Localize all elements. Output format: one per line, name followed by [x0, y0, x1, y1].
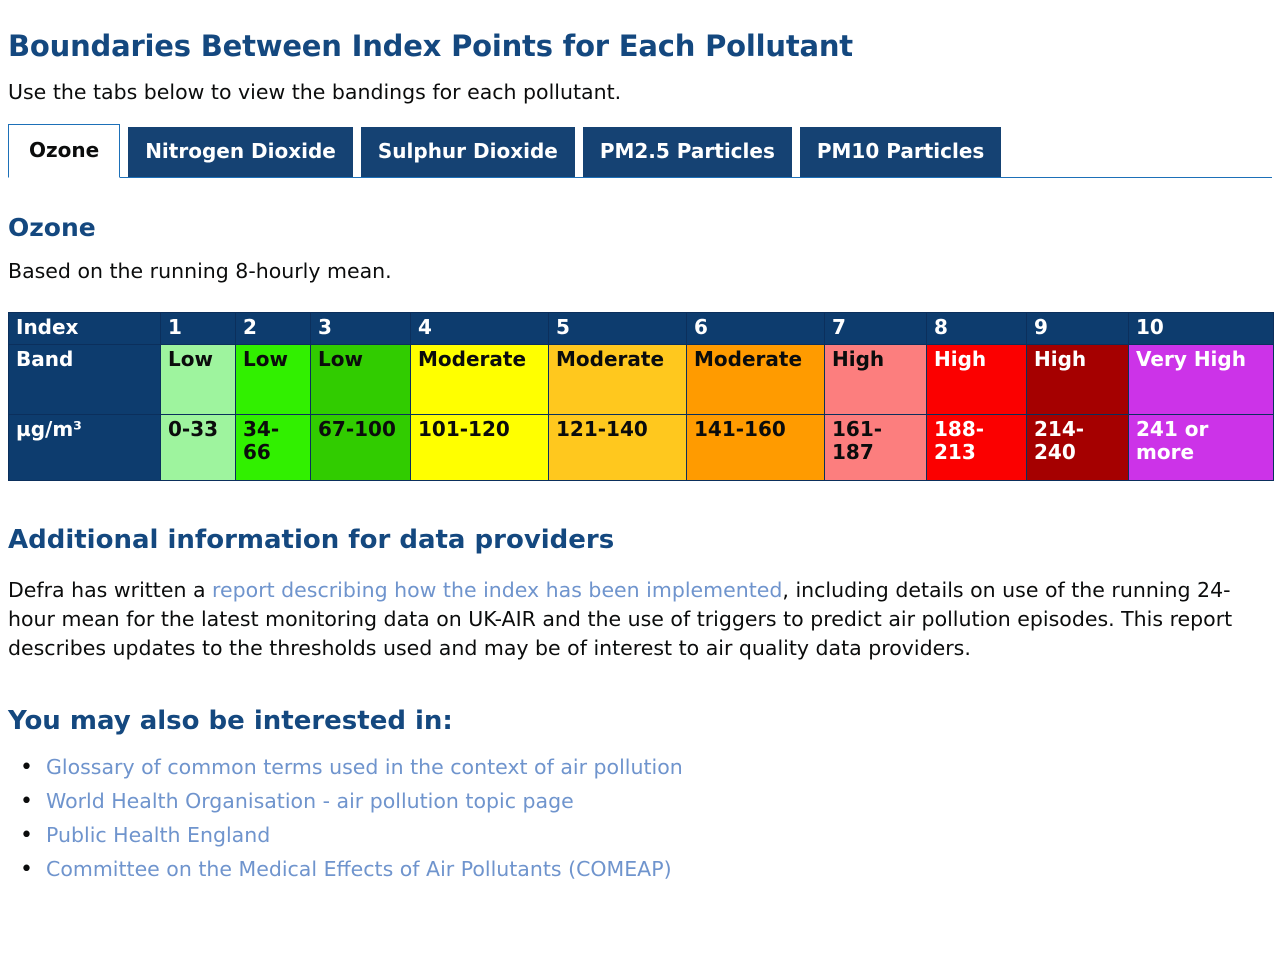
- tab-sulphur-dioxide[interactable]: Sulphur Dioxide: [361, 127, 575, 177]
- row-label-index: Index: [9, 313, 161, 345]
- list-item: Public Health England: [46, 818, 1272, 852]
- list-item: Glossary of common terms used in the con…: [46, 750, 1272, 784]
- interested-heading: You may also be interested in:: [8, 663, 1272, 736]
- list-item: World Health Organisation - air pollutio…: [46, 784, 1272, 818]
- additional-info-heading: Additional information for data provider…: [8, 481, 1272, 555]
- related-link[interactable]: Public Health England: [46, 823, 270, 847]
- index-header-8: 8: [927, 313, 1027, 345]
- page-title: Boundaries Between Index Points for Each…: [8, 0, 1272, 63]
- concentration-cell-10: 241 or more: [1129, 415, 1274, 481]
- band-cell-7: High: [825, 345, 927, 415]
- band-cell-2: Low: [236, 345, 311, 415]
- tab-list: OzoneNitrogen DioxideSulphur DioxidePM2.…: [8, 123, 1272, 177]
- index-header-2: 2: [236, 313, 311, 345]
- table-row-concentration: µg/m³ 0-3334-6667-100101-120121-140141-1…: [9, 415, 1274, 481]
- band-cell-8: High: [927, 345, 1027, 415]
- index-header-4: 4: [411, 313, 549, 345]
- concentration-cell-3: 67-100: [311, 415, 411, 481]
- section-heading: Ozone: [8, 178, 1272, 242]
- concentration-cell-1: 0-33: [161, 415, 236, 481]
- related-link[interactable]: World Health Organisation - air pollutio…: [46, 789, 574, 813]
- band-cell-10: Very High: [1129, 345, 1274, 415]
- row-label-concentration: µg/m³: [9, 415, 161, 481]
- list-item: Committee on the Medical Effects of Air …: [46, 852, 1272, 886]
- concentration-cell-6: 141-160: [687, 415, 825, 481]
- section-subtitle: Based on the running 8-hourly mean.: [8, 258, 1272, 285]
- tab-nitrogen-dioxide[interactable]: Nitrogen Dioxide: [128, 127, 353, 177]
- table-row-band: Band LowLowLowModerateModerateModerateHi…: [9, 345, 1274, 415]
- concentration-cell-5: 121-140: [549, 415, 687, 481]
- index-header-3: 3: [311, 313, 411, 345]
- row-label-band: Band: [9, 345, 161, 415]
- related-link[interactable]: Committee on the Medical Effects of Air …: [46, 857, 672, 881]
- band-cell-9: High: [1027, 345, 1129, 415]
- tab-pm10-particles[interactable]: PM10 Particles: [800, 127, 1001, 177]
- tab-underline: [8, 177, 1272, 178]
- page-container: Boundaries Between Index Points for Each…: [0, 0, 1280, 886]
- tab-bar: OzoneNitrogen DioxideSulphur DioxidePM2.…: [8, 123, 1272, 178]
- index-table-wrap: Index 12345678910 Band LowLowLowModerate…: [8, 312, 1272, 481]
- band-cell-1: Low: [161, 345, 236, 415]
- index-header-1: 1: [161, 313, 236, 345]
- tab-pm2-5-particles[interactable]: PM2.5 Particles: [583, 127, 792, 177]
- related-link[interactable]: Glossary of common terms used in the con…: [46, 755, 683, 779]
- tab-ozone[interactable]: Ozone: [8, 124, 120, 178]
- additional-info-paragraph: Defra has written a report describing ho…: [8, 576, 1260, 663]
- band-cell-5: Moderate: [549, 345, 687, 415]
- index-header-9: 9: [1027, 313, 1129, 345]
- index-header-6: 6: [687, 313, 825, 345]
- concentration-cell-7: 161-187: [825, 415, 927, 481]
- related-links-list: Glossary of common terms used in the con…: [8, 750, 1272, 886]
- concentration-cell-2: 34-66: [236, 415, 311, 481]
- table-row-index: Index 12345678910: [9, 313, 1274, 345]
- report-link[interactable]: report describing how the index has been…: [212, 578, 782, 602]
- concentration-cell-9: 214-240: [1027, 415, 1129, 481]
- index-header-5: 5: [549, 313, 687, 345]
- band-cell-4: Moderate: [411, 345, 549, 415]
- concentration-cell-4: 101-120: [411, 415, 549, 481]
- concentration-cell-8: 188-213: [927, 415, 1027, 481]
- band-cell-6: Moderate: [687, 345, 825, 415]
- index-header-10: 10: [1129, 313, 1274, 345]
- text-before-link: Defra has written a: [8, 578, 212, 602]
- intro-text: Use the tabs below to view the bandings …: [8, 79, 1272, 106]
- band-cell-3: Low: [311, 345, 411, 415]
- index-header-7: 7: [825, 313, 927, 345]
- pollutant-index-table: Index 12345678910 Band LowLowLowModerate…: [8, 312, 1274, 481]
